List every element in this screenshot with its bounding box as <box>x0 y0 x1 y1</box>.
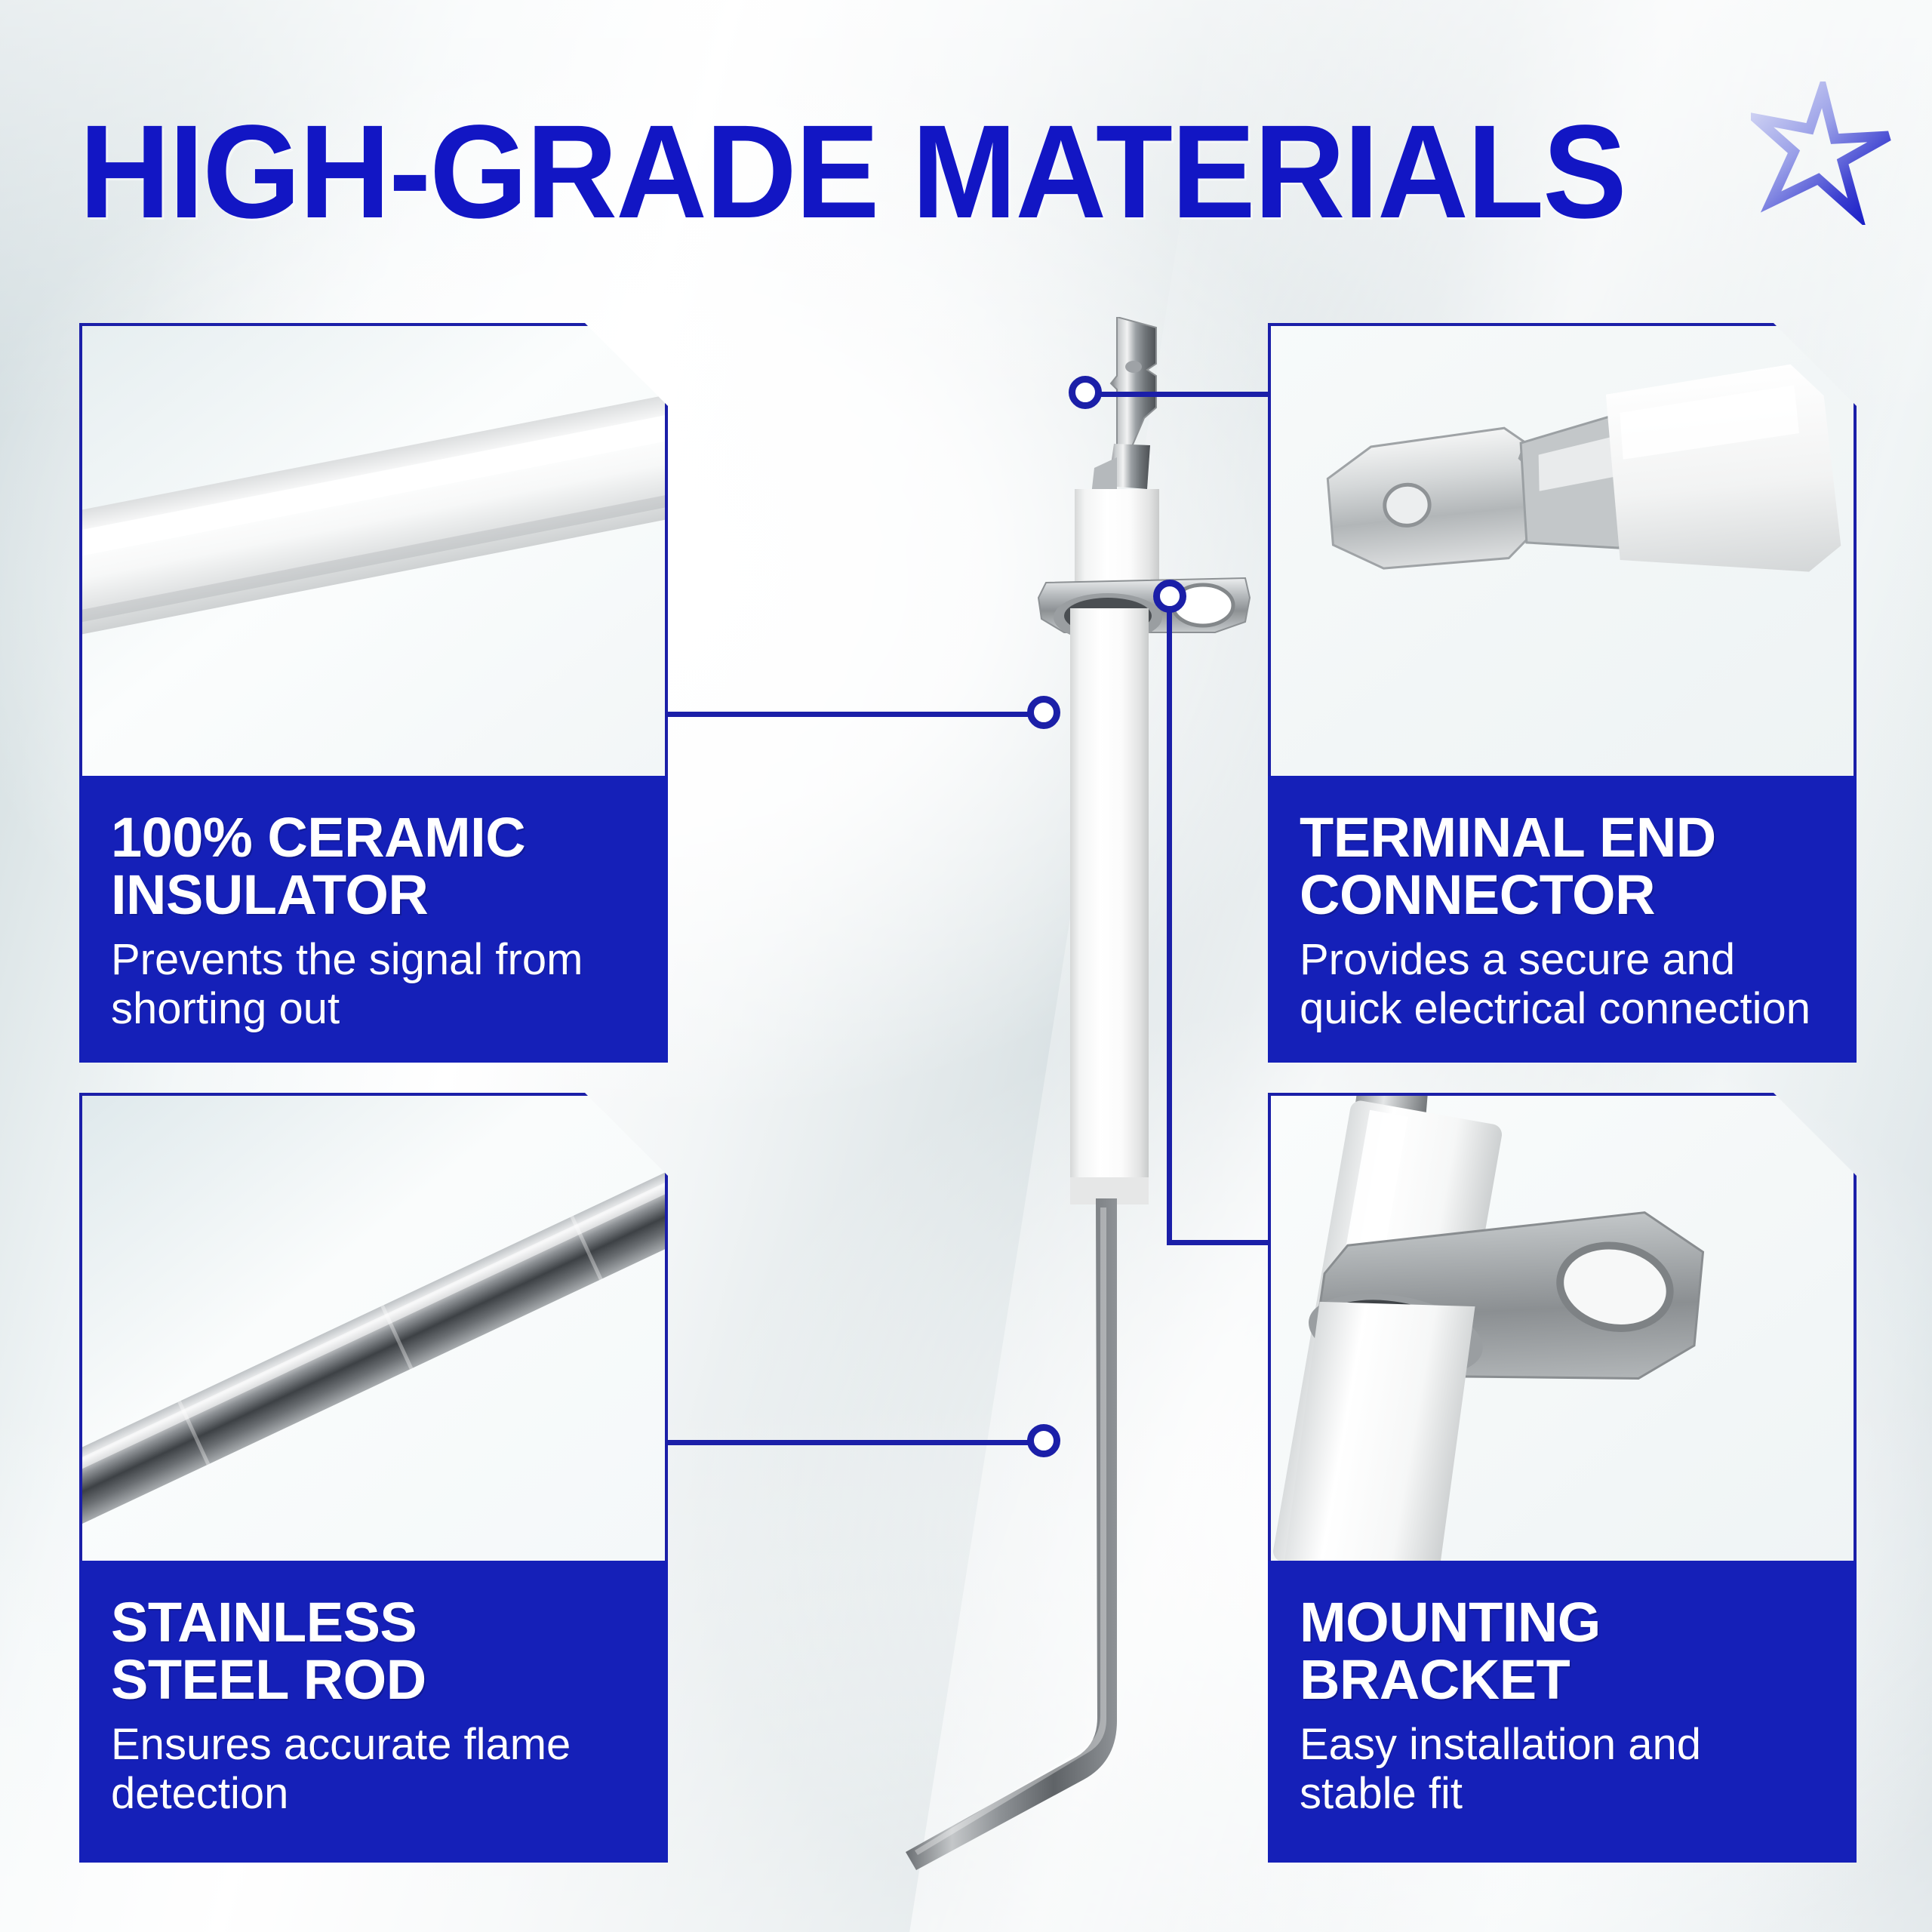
callout-body-bracket: Easy installation and stable fit <box>1300 1721 1825 1819</box>
infographic-canvas: HIGH-GRADE MATERIALS <box>0 0 1932 1932</box>
star-icon <box>1751 82 1894 225</box>
page-title-text: HIGH-GRADE MATERIALS <box>79 106 1626 238</box>
mounting-bracket-photo <box>1271 1096 1854 1564</box>
callout-photo-ceramic <box>79 323 668 779</box>
callout-terminal-end-connector: TERMINAL END CONNECTOR Provides a secure… <box>1268 323 1857 1063</box>
page-title: HIGH-GRADE MATERIALS <box>79 106 1860 238</box>
leader-line-bracket-vertical <box>1167 596 1172 1245</box>
callout-title-ceramic: 100% CERAMIC INSULATOR <box>111 809 636 924</box>
callout-band-ceramic: 100% CERAMIC INSULATOR Prevents the sign… <box>79 776 668 1063</box>
leader-line-bracket-horizontal <box>1167 1240 1270 1245</box>
callout-band-rod: STAINLESS STEEL ROD Ensures accurate fla… <box>79 1561 668 1863</box>
callout-photo-terminal <box>1268 323 1857 779</box>
leader-node-ceramic <box>1027 696 1060 729</box>
spade-terminal-photo <box>1271 326 1854 779</box>
leader-line-terminal <box>1100 392 1270 397</box>
callout-body-rod: Ensures accurate flame detection <box>111 1721 636 1819</box>
callout-photo-rod <box>79 1093 668 1564</box>
callout-mounting-bracket: MOUNTING BRACKET Easy installation and s… <box>1268 1093 1857 1863</box>
leader-node-terminal <box>1069 376 1102 409</box>
callout-ceramic-insulator: 100% CERAMIC INSULATOR Prevents the sign… <box>79 323 668 1063</box>
callout-body-terminal: Provides a secure and quick electrical c… <box>1300 936 1825 1034</box>
callout-photo-bracket <box>1268 1093 1857 1564</box>
callout-band-bracket: MOUNTING BRACKET Easy installation and s… <box>1268 1561 1857 1863</box>
leader-node-rod <box>1027 1424 1060 1457</box>
callout-body-ceramic: Prevents the signal from shorting out <box>111 936 636 1034</box>
callout-title-bracket: MOUNTING BRACKET <box>1300 1594 1825 1709</box>
callout-title-rod: STAINLESS STEEL ROD <box>111 1594 636 1709</box>
callout-band-terminal: TERMINAL END CONNECTOR Provides a secure… <box>1268 776 1857 1063</box>
leader-line-ceramic <box>668 712 1030 717</box>
product-image-flame-sensor <box>891 317 1298 1894</box>
leader-node-bracket <box>1153 580 1186 613</box>
ceramic-tube-photo <box>82 326 665 779</box>
leader-line-rod <box>668 1440 1030 1445</box>
callout-title-terminal: TERMINAL END CONNECTOR <box>1300 809 1825 924</box>
steel-rod-photo <box>82 1096 665 1564</box>
callout-stainless-steel-rod: STAINLESS STEEL ROD Ensures accurate fla… <box>79 1093 668 1863</box>
